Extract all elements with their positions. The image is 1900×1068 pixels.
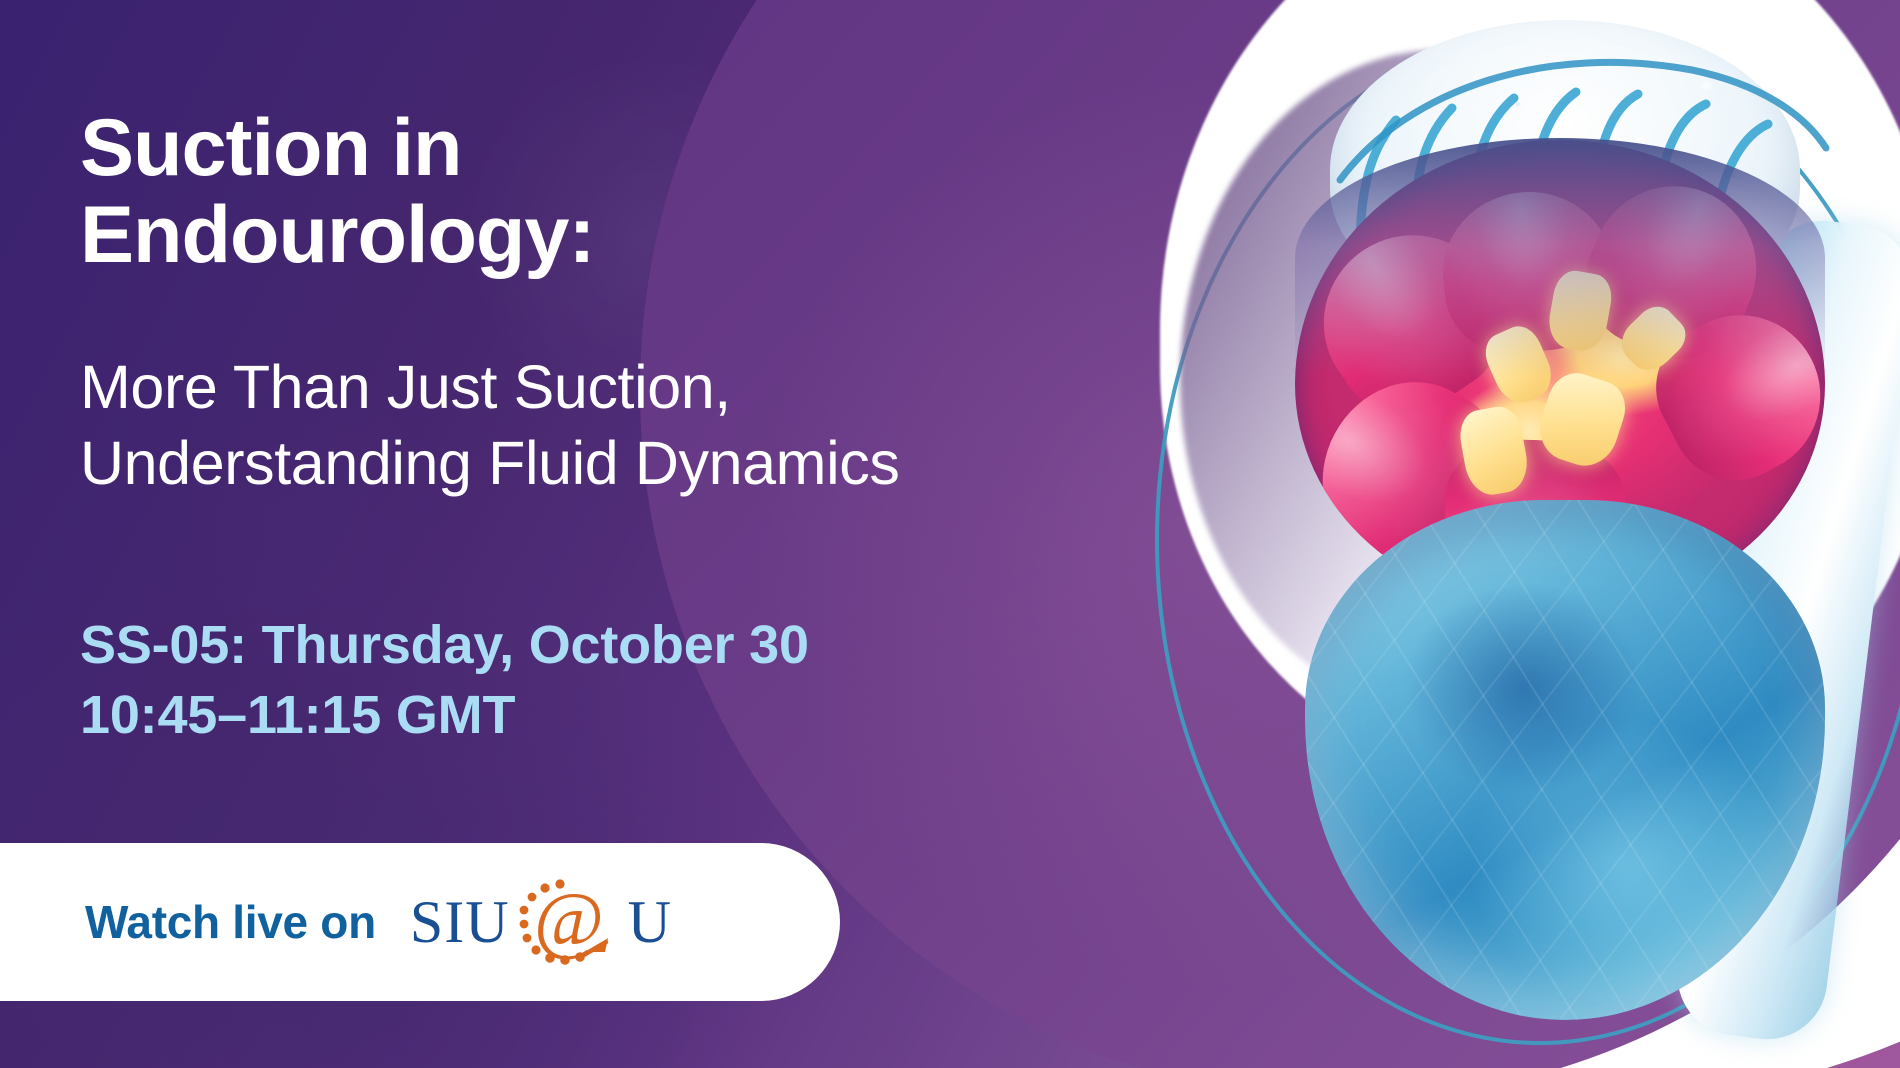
session-time: 10:45–11:15 GMT: [80, 680, 1160, 750]
page-subtitle: More Than Just Suction, Understanding Fl…: [80, 350, 1160, 501]
siu-at-u-logo: SIU: [410, 872, 671, 972]
cta-label: Watch live on: [85, 895, 376, 949]
logo-u-text: U: [628, 892, 671, 952]
session-details: SS-05: Thursday, October 30 10:45–11:15 …: [80, 610, 1160, 750]
session-date: SS-05: Thursday, October 30: [80, 610, 1160, 680]
title-line-2: Endourology:: [80, 192, 1130, 279]
page-title: Suction in Endourology:: [80, 105, 1130, 278]
event-promo-banner: Suction in Endourology: More Than Just S…: [0, 0, 1900, 1068]
watch-live-cta[interactable]: Watch live on SIU: [0, 843, 840, 1001]
kidney-illustration: [1120, 0, 1900, 1068]
logo-siu-text: SIU: [410, 892, 510, 952]
renal-capsule-edge: [1295, 138, 1825, 378]
logo-at-symbol: @: [534, 882, 604, 958]
subtitle-line-1: More Than Just Suction,: [80, 350, 1160, 426]
title-line-1: Suction in: [80, 105, 1130, 192]
subtitle-line-2: Understanding Fluid Dynamics: [80, 426, 1160, 502]
logo-at-mark: @: [510, 872, 628, 972]
